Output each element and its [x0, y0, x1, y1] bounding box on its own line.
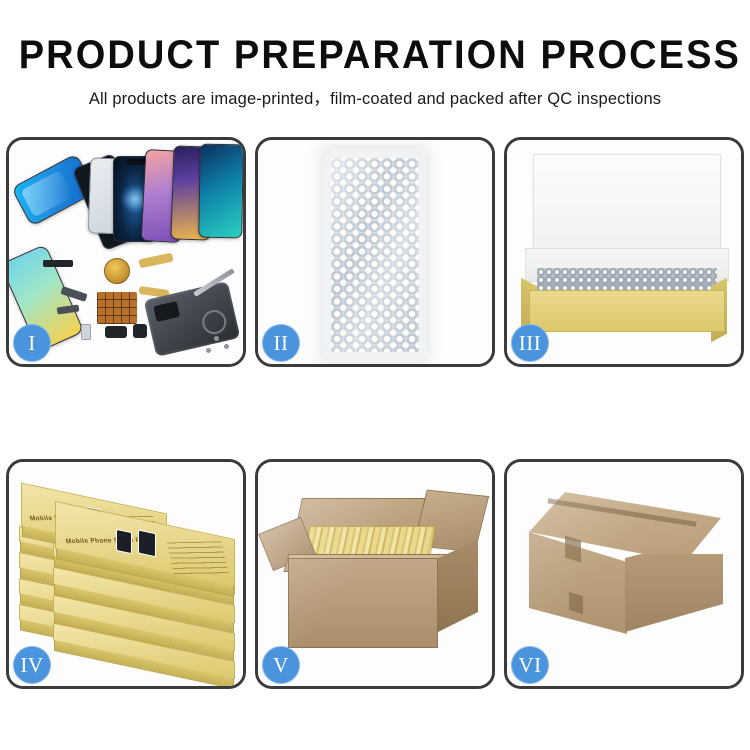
phone-teal-icon [198, 144, 243, 239]
part-camera-module-icon [105, 326, 127, 338]
box-window-icon [116, 529, 132, 554]
page-root: PRODUCT PREPARATION PROCESS All products… [0, 0, 750, 750]
part-button-icon [133, 324, 147, 338]
step-panel-6[interactable]: VI [504, 459, 744, 689]
box-window-icon [138, 530, 156, 558]
box-lid-icon [533, 154, 721, 258]
page-title: PRODUCT PREPARATION PROCESS [19, 34, 732, 76]
header: PRODUCT PREPARATION PROCESS All products… [0, 0, 750, 109]
carton-tape-icon [569, 592, 583, 614]
part-sim-tray-icon [81, 324, 91, 340]
step-panel-5[interactable]: V [255, 459, 495, 689]
screw-icon [206, 348, 211, 353]
carton-right-face-icon [625, 554, 723, 646]
screw-icon [224, 344, 229, 349]
part-speaker-icon [43, 260, 73, 267]
screw-icon [214, 336, 219, 341]
box-spec-lines-icon [167, 541, 229, 577]
part-coil-icon [104, 258, 130, 284]
carton-body-icon [288, 558, 438, 648]
bubble-wrap-illustration [323, 148, 427, 362]
step-panel-1[interactable]: I [6, 137, 246, 367]
step-badge-4: IV [13, 646, 51, 684]
bubble-pattern-icon [331, 158, 419, 352]
step-panel-3[interactable]: III [504, 137, 744, 367]
part-ic-board-icon [97, 292, 137, 324]
part-flex-cable-icon [138, 253, 173, 269]
box-front-wall-icon [529, 290, 725, 332]
page-subtitle: All products are image-printed，film-coat… [0, 85, 750, 109]
process-steps-grid: I II III [6, 137, 744, 737]
step-badge-6: VI [511, 646, 549, 684]
retail-box-stack-illustration: Mobile Phone Spare Parts Mobile Phone Sp… [17, 480, 241, 676]
carton-tape-icon [565, 536, 581, 563]
step-badge-1: I [13, 324, 51, 362]
step-panel-2[interactable]: II [255, 137, 495, 367]
step-badge-2: II [262, 324, 300, 362]
step-panel-4[interactable]: Mobile Phone Spare Parts Mobile Phone Sp… [6, 459, 246, 689]
step-badge-5: V [262, 646, 300, 684]
step-badge-3: III [511, 324, 549, 362]
